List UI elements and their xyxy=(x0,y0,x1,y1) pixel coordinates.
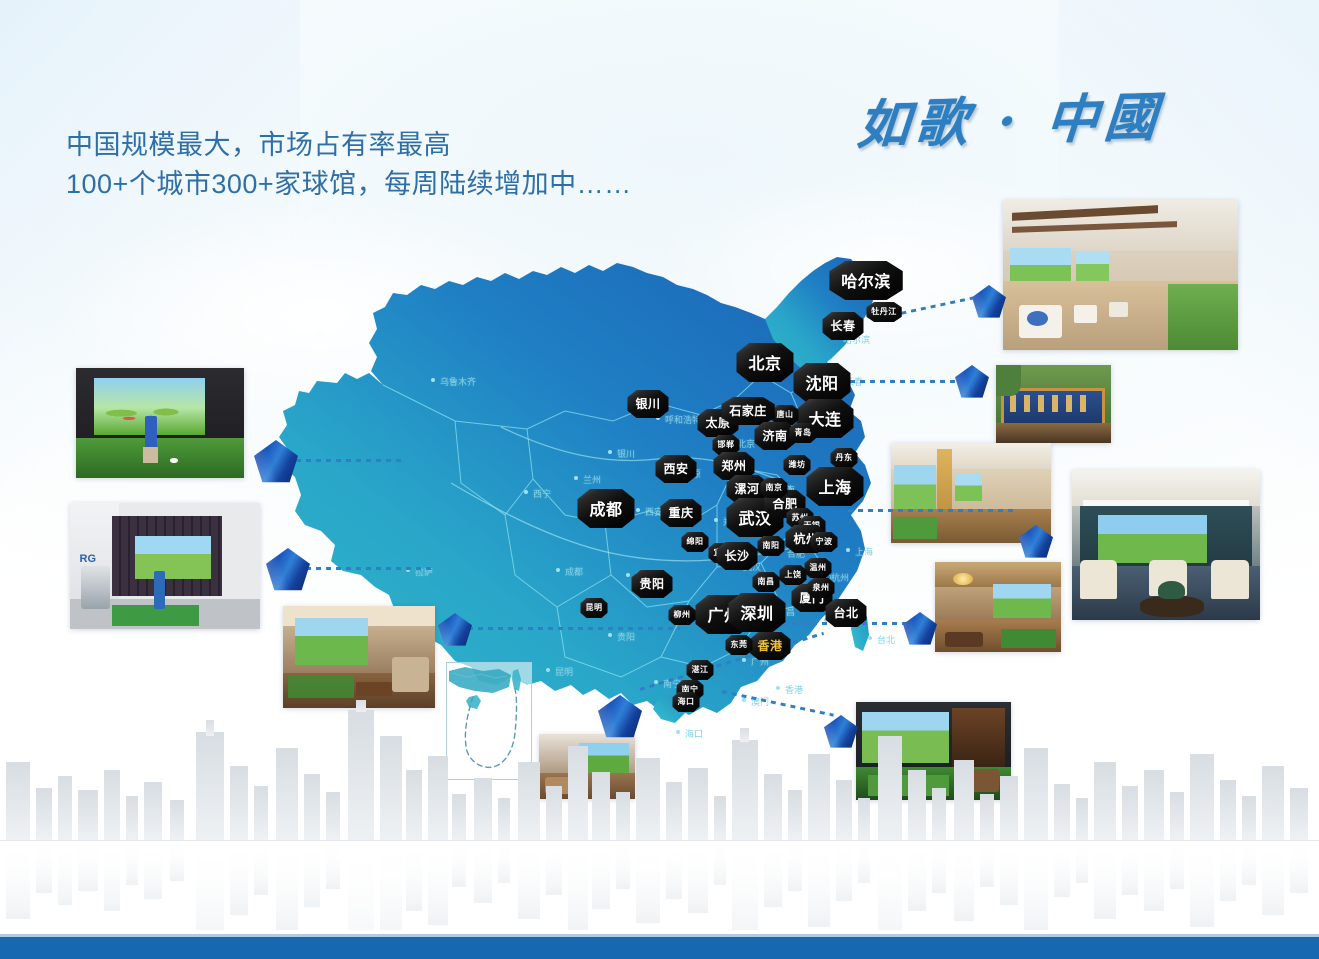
city-marker[interactable]: 银川 xyxy=(627,390,668,418)
city-marker[interactable]: 南京 xyxy=(761,478,788,498)
photo-content xyxy=(1072,470,1260,620)
photo-club-entrance[interactable] xyxy=(996,365,1111,443)
city-marker[interactable]: 重庆 xyxy=(660,499,701,527)
city-marker-label: 绵阳 xyxy=(682,532,709,552)
photo-green-corridor[interactable] xyxy=(891,443,1051,543)
footer-bar xyxy=(0,937,1319,959)
city-marker-label: 台北 xyxy=(825,599,866,627)
city-marker-label: 丹东 xyxy=(831,448,858,468)
city-marker-label: 南昌 xyxy=(753,572,780,592)
city-marker-label: 西安 xyxy=(655,455,696,483)
city-marker[interactable]: 柳州 xyxy=(669,605,696,625)
city-marker-label: 南阳 xyxy=(758,536,785,556)
city-marker-label: 牡丹江 xyxy=(866,302,902,322)
connector-line-right-mid xyxy=(848,509,1016,512)
city-marker[interactable]: 台北 xyxy=(825,599,866,627)
photo-content xyxy=(76,368,244,478)
city-marker-label: 南京 xyxy=(761,478,788,498)
city-marker[interactable]: 成都 xyxy=(577,489,634,528)
photo-content xyxy=(996,365,1111,443)
city-marker-label: 宁波 xyxy=(811,532,838,552)
city-marker[interactable]: 青岛 xyxy=(790,423,817,443)
photo-brown-lounge[interactable] xyxy=(935,562,1061,652)
city-marker-label: 温州 xyxy=(805,558,832,578)
photo-rg-studio[interactable]: RG xyxy=(70,503,260,629)
city-marker-label: 重庆 xyxy=(660,499,701,527)
city-marker-label: 泉州 xyxy=(808,578,835,598)
city-marker-label: 石家庄 xyxy=(721,397,775,425)
city-marker[interactable]: 上海 xyxy=(806,467,863,506)
photo-open-lounge-large[interactable] xyxy=(1003,200,1238,350)
skyline-buildings xyxy=(6,700,1308,840)
photo-content xyxy=(891,443,1051,543)
city-marker[interactable]: 丹东 xyxy=(831,448,858,468)
skyline-reflection xyxy=(6,841,1308,930)
brand-logo-text: 如歌 · 中國 xyxy=(831,77,1188,167)
city-marker[interactable]: 湛江 xyxy=(687,660,714,680)
connector-line-left-bottom xyxy=(468,627,680,630)
city-marker-label: 昆明 xyxy=(581,598,608,618)
city-marker[interactable]: 绵阳 xyxy=(682,532,709,552)
city-marker-label: 香港 xyxy=(749,632,790,660)
photo-classic-salon[interactable] xyxy=(1072,470,1260,620)
city-marker-label: 青岛 xyxy=(790,423,817,443)
photo-kids-golf-sim[interactable] xyxy=(76,368,244,478)
city-marker[interactable]: 泉州 xyxy=(808,578,835,598)
city-marker[interactable]: 北京 xyxy=(736,343,793,382)
city-marker-label: 长春 xyxy=(822,312,863,340)
connector-line-left-mid xyxy=(306,567,432,570)
city-marker[interactable]: 东莞 xyxy=(726,635,753,655)
city-marker[interactable]: 南昌 xyxy=(753,572,780,592)
city-marker[interactable]: 哈尔滨 xyxy=(829,261,903,300)
city-marker[interactable]: 温州 xyxy=(805,558,832,578)
city-skyline-silhouette xyxy=(0,700,1319,930)
city-marker[interactable]: 贵阳 xyxy=(631,570,672,598)
photo-content xyxy=(283,606,435,708)
city-marker[interactable]: 昆明 xyxy=(581,598,608,618)
city-marker[interactable]: 上饶 xyxy=(780,565,807,585)
city-marker[interactable]: 南阳 xyxy=(758,536,785,556)
connector-line-left-top xyxy=(296,459,402,462)
city-marker-label: 东莞 xyxy=(726,635,753,655)
city-marker-label: 深圳 xyxy=(728,593,785,632)
city-marker-label: 北京 xyxy=(736,343,793,382)
city-marker[interactable]: 长沙 xyxy=(716,542,757,570)
city-marker[interactable]: 石家庄 xyxy=(721,397,775,425)
city-marker[interactable]: 牡丹江 xyxy=(866,302,902,322)
connector-line-right-upper xyxy=(840,380,956,383)
city-marker-label: 上海 xyxy=(806,467,863,506)
city-marker-label: 沈阳 xyxy=(793,363,850,402)
headline-line-2: 100+个城市300+家球馆，每周陆续增加中…… xyxy=(66,165,826,203)
city-marker[interactable]: 沈阳 xyxy=(793,363,850,402)
brand-logo: 如歌 · 中國 xyxy=(835,82,1185,162)
city-marker-label: 湛江 xyxy=(687,660,714,680)
city-marker-label: 长沙 xyxy=(716,542,757,570)
city-marker-label: 柳州 xyxy=(669,605,696,625)
city-marker[interactable]: 深圳 xyxy=(728,593,785,632)
city-marker[interactable]: 香港 xyxy=(749,632,790,660)
city-marker[interactable]: 西安 xyxy=(655,455,696,483)
photo-content xyxy=(1003,200,1238,350)
city-marker-label: 上饶 xyxy=(780,565,807,585)
city-marker-label: 贵阳 xyxy=(631,570,672,598)
city-marker-label: 哈尔滨 xyxy=(829,261,903,300)
city-marker[interactable]: 宁波 xyxy=(811,532,838,552)
city-marker-label: 成都 xyxy=(577,489,634,528)
photo-wood-lounge[interactable] xyxy=(283,606,435,708)
city-marker[interactable]: 长春 xyxy=(822,312,863,340)
photo-content xyxy=(935,562,1061,652)
photo-content: RG xyxy=(70,503,260,629)
headline-line-1: 中国规模最大，市场占有率最高 xyxy=(66,130,451,160)
poster-stage: 中国规模最大，市场占有率最高 100+个城市300+家球馆，每周陆续增加中…… … xyxy=(0,0,1319,959)
city-marker-label: 银川 xyxy=(627,390,668,418)
